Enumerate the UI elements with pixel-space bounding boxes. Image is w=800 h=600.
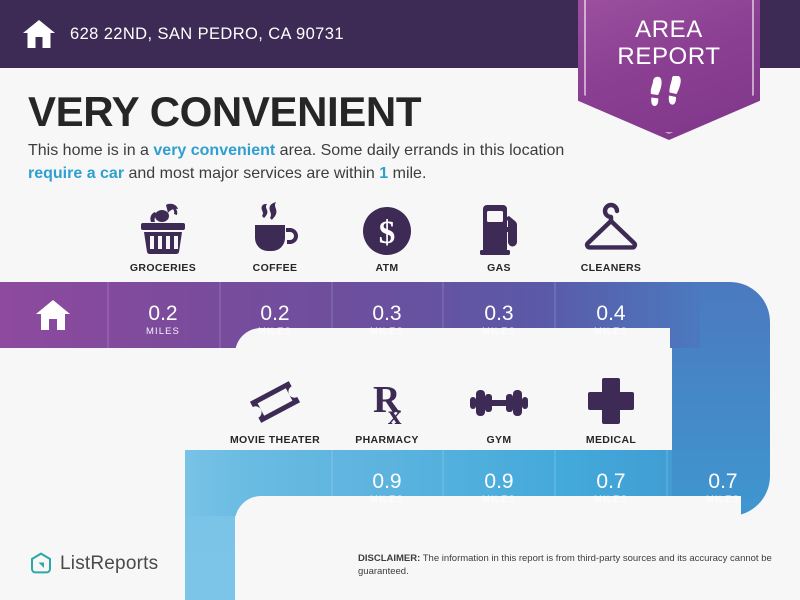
- category-gas[interactable]: GAS: [443, 200, 555, 274]
- pharmacy-rx-icon: R x: [331, 372, 443, 428]
- desc-text-2: area. Some daily errands in this locatio…: [275, 142, 564, 159]
- desc-highlight-3: 1: [379, 165, 388, 182]
- svg-text:$: $: [379, 215, 396, 251]
- distance-groceries: 0.2 MILES: [107, 302, 219, 337]
- category-label: MOVIE THEATER: [219, 434, 331, 446]
- disclaimer: DISCLAIMER: The information in this repo…: [358, 553, 788, 578]
- category-label: COFFEE: [219, 262, 331, 274]
- desc-text-1: This home is in a: [28, 142, 153, 159]
- listreports-house-icon: [30, 552, 52, 576]
- svg-text:x: x: [388, 400, 402, 428]
- disclaimer-text: The information in this report is from t…: [358, 553, 772, 577]
- category-label: GYM: [443, 434, 555, 446]
- disclaimer-label: DISCLAIMER:: [358, 553, 420, 564]
- path-bottom-notch: [235, 496, 741, 600]
- atm-dollar-icon: $: [331, 200, 443, 256]
- clothes-hanger-icon: [555, 200, 667, 256]
- category-label: GROCERIES: [107, 262, 219, 274]
- listreports-logo[interactable]: ListReports: [30, 552, 158, 576]
- category-gym[interactable]: GYM: [443, 372, 555, 446]
- badge-title: AREA REPORT: [578, 16, 760, 70]
- category-pharmacy[interactable]: R x PHARMACY: [331, 372, 443, 446]
- area-report-badge: AREA REPORT: [578, 0, 760, 140]
- summary-description: This home is in a very convenient area. …: [28, 140, 573, 185]
- distance-atm: 0.3 MILES: [331, 302, 443, 337]
- desc-text-4: mile.: [388, 165, 426, 182]
- movie-ticket-icon: [219, 372, 331, 428]
- header-content: 628 22ND, SAN PEDRO, CA 90731: [22, 0, 344, 68]
- footprints-icon: [578, 76, 760, 115]
- category-label: ATM: [331, 262, 443, 274]
- category-atm[interactable]: $ ATM: [331, 200, 443, 274]
- distance-medical: 0.7 MILES: [667, 470, 779, 505]
- desc-highlight-2: require a car: [28, 165, 124, 182]
- category-medical[interactable]: MEDICAL: [555, 372, 667, 446]
- medical-cross-icon: [555, 372, 667, 428]
- desc-text-3: and most major services are within: [124, 165, 379, 182]
- category-coffee[interactable]: COFFEE: [219, 200, 331, 274]
- distance-pharmacy: 0.9 MILES: [443, 470, 555, 505]
- groceries-basket-icon: [107, 200, 219, 256]
- category-label: PHARMACY: [331, 434, 443, 446]
- category-groceries[interactable]: GROCERIES: [107, 200, 219, 274]
- distance-gym: 0.7 MILES: [555, 470, 667, 505]
- badge-line-2: REPORT: [578, 43, 760, 70]
- page-title: VERY CONVENIENT: [28, 88, 421, 136]
- category-label: MEDICAL: [555, 434, 667, 446]
- category-label: CLEANERS: [555, 262, 667, 274]
- gas-pump-icon: [443, 200, 555, 256]
- desc-highlight-1: very convenient: [153, 142, 275, 159]
- dumbbell-icon: [443, 372, 555, 428]
- logo-text: ListReports: [60, 553, 158, 575]
- distance-coffee: 0.2 MILES: [219, 302, 331, 337]
- distance-cleaners: 0.4 MILES: [555, 302, 667, 337]
- coffee-cup-icon: [219, 200, 331, 256]
- category-cleaners[interactable]: CLEANERS: [555, 200, 667, 274]
- distance-movie-theater: 0.9 MILES: [331, 470, 443, 505]
- property-address: 628 22ND, SAN PEDRO, CA 90731: [70, 25, 344, 44]
- category-label: GAS: [443, 262, 555, 274]
- infographic-canvas: 628 22ND, SAN PEDRO, CA 90731 AREA REPOR…: [0, 0, 800, 600]
- badge-line-1: AREA: [578, 16, 760, 43]
- house-icon: [22, 19, 56, 49]
- category-movie-theater[interactable]: MOVIE THEATER: [219, 372, 331, 446]
- distance-gas: 0.3 MILES: [443, 302, 555, 337]
